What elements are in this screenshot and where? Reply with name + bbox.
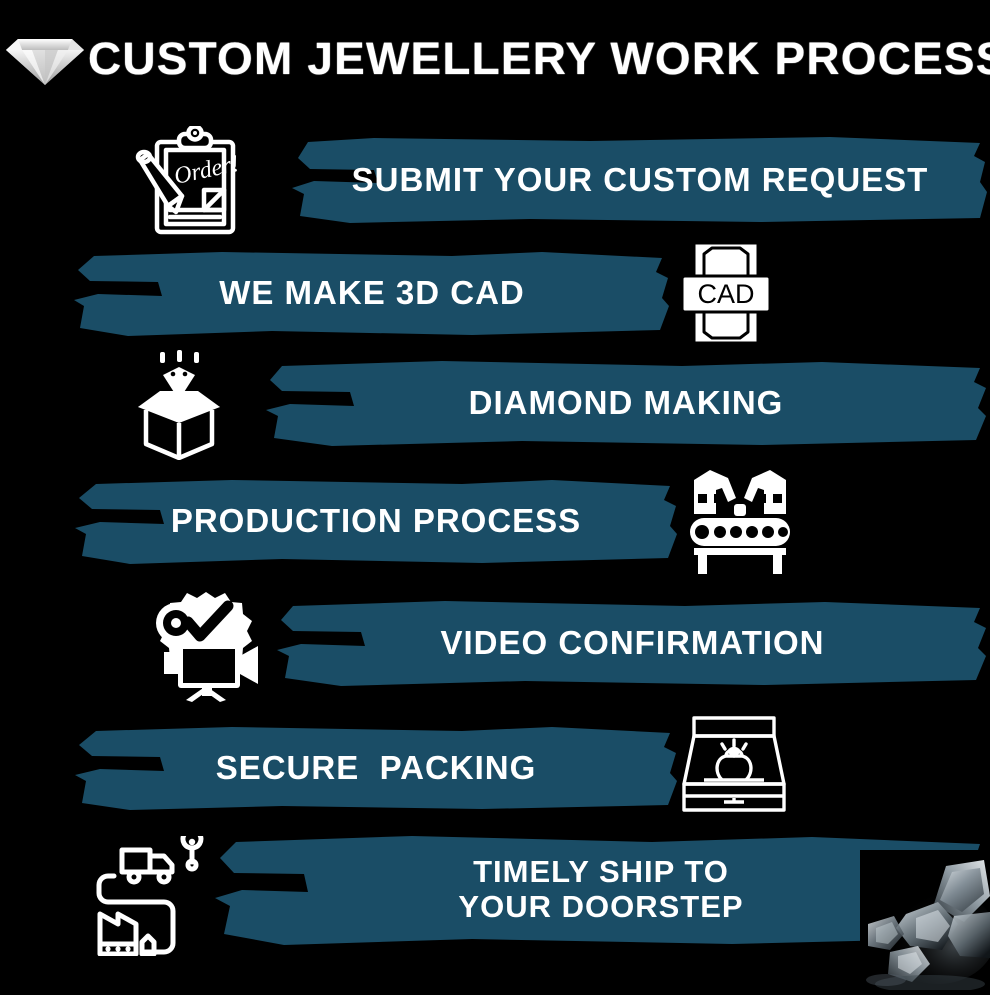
page-title: CUSTOM JEWELLERY WORK PROCESS	[88, 36, 990, 81]
step-row-5: VIDEO CONFIRMATION	[0, 588, 990, 700]
step-label-5: VIDEO CONFIRMATION	[275, 600, 990, 686]
step-label-6: SECURE PACKING	[72, 726, 680, 810]
step-banner-1[interactable]: SUBMIT YOUR CUSTOM REQUEST	[290, 136, 990, 224]
step-row-6: SECURE PACKING	[0, 714, 990, 822]
step-banner-7[interactable]: TIMELY SHIP TO YOUR DOORSTEP	[212, 834, 990, 946]
diamond-in-open-box-icon	[130, 348, 255, 460]
step-banner-6[interactable]: SECURE PACKING	[72, 726, 680, 810]
step-label-2: WE MAKE 3D CAD	[72, 250, 672, 336]
cad-document-icon: CAD	[676, 240, 776, 346]
step-label-1: SUBMIT YOUR CUSTOM REQUEST	[290, 136, 990, 224]
step-row-4: PRODUCTION PROCESS	[0, 468, 990, 578]
step-banner-2[interactable]: WE MAKE 3D CAD	[72, 250, 672, 336]
diamond-gem-icon	[2, 26, 88, 90]
clipboard-order-pencil-icon: Order!	[124, 126, 254, 236]
step-banner-3[interactable]: DIAMOND MAKING	[262, 360, 990, 446]
factory-truck-location-icon	[82, 836, 222, 956]
step-label-7: TIMELY SHIP TO YOUR DOORSTEP	[212, 834, 990, 946]
step-row-7: TIMELY SHIP TO YOUR DOORSTEP	[0, 834, 990, 964]
step-banner-4[interactable]: PRODUCTION PROCESS	[72, 478, 680, 564]
step-label-3: DIAMOND MAKING	[262, 360, 990, 446]
cad-icon-caption: CAD	[697, 279, 754, 309]
ring-box-icon	[678, 710, 790, 820]
video-camera-check-icon	[140, 588, 266, 702]
step-row-2: WE MAKE 3D CAD CAD	[0, 240, 990, 346]
step-row-1: Order! SUBMIT YOUR CUSTOM REQUEST	[0, 124, 990, 230]
step-label-4: PRODUCTION PROCESS	[72, 478, 680, 564]
poster-canvas: CUSTOM JEWELLERY WORK PROCESS	[0, 0, 990, 990]
poster-header: CUSTOM JEWELLERY WORK PROCESS	[0, 18, 990, 98]
step-banner-5[interactable]: VIDEO CONFIRMATION	[275, 600, 990, 686]
robotic-arms-conveyor-icon	[684, 468, 796, 574]
step-row-3: DIAMOND MAKING	[0, 348, 990, 458]
